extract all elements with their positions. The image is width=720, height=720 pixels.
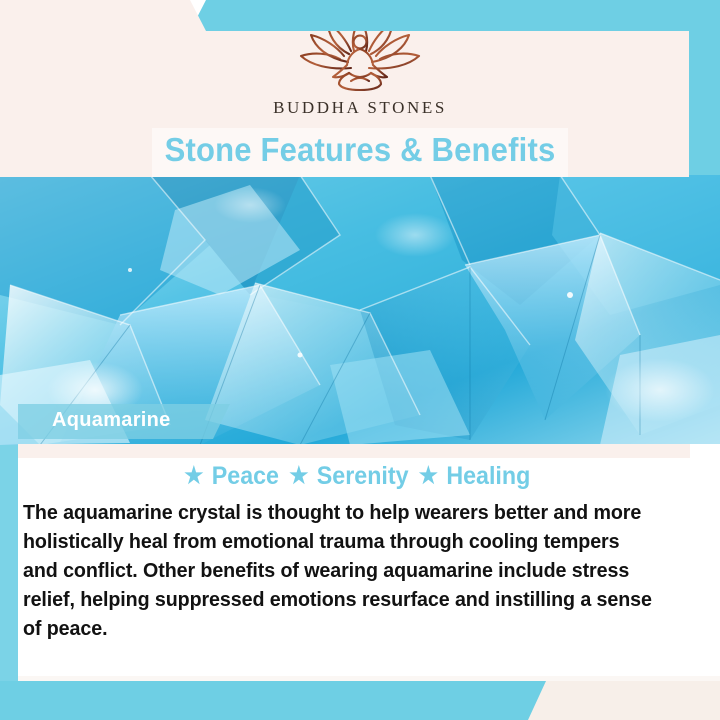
decor-bottom-right-cream — [520, 681, 720, 720]
decor-bottom-blue-band — [0, 681, 546, 720]
stone-name-badge: Aquamarine — [18, 404, 230, 439]
star-icon-1: ★ — [184, 462, 203, 488]
decor-top-blue-band — [190, 0, 720, 31]
description-text: The aquamarine crystal is thought to hel… — [23, 498, 657, 643]
star-icon-2: ★ — [289, 462, 308, 488]
keyword-serenity: Serenity — [317, 462, 409, 490]
keyword-row: ★Peace★Serenity★Healing — [42, 462, 667, 491]
page-title: Stone Features & Benefits — [22, 126, 699, 174]
keyword-healing: Healing — [446, 462, 530, 490]
stone-name-label: Aquamarine — [52, 409, 171, 432]
brand-name: BUDDHA STONES — [273, 98, 447, 118]
star-icon-3: ★ — [419, 462, 438, 488]
content-top-tint — [18, 444, 690, 458]
brand-logo: BUDDHA STONES — [0, 18, 720, 118]
stone-benefits-poster: Aquamarine — [0, 0, 720, 720]
keyword-peace: Peace — [212, 462, 279, 490]
content-panel: ★Peace★Serenity★Healing The aquamarine c… — [18, 444, 720, 676]
